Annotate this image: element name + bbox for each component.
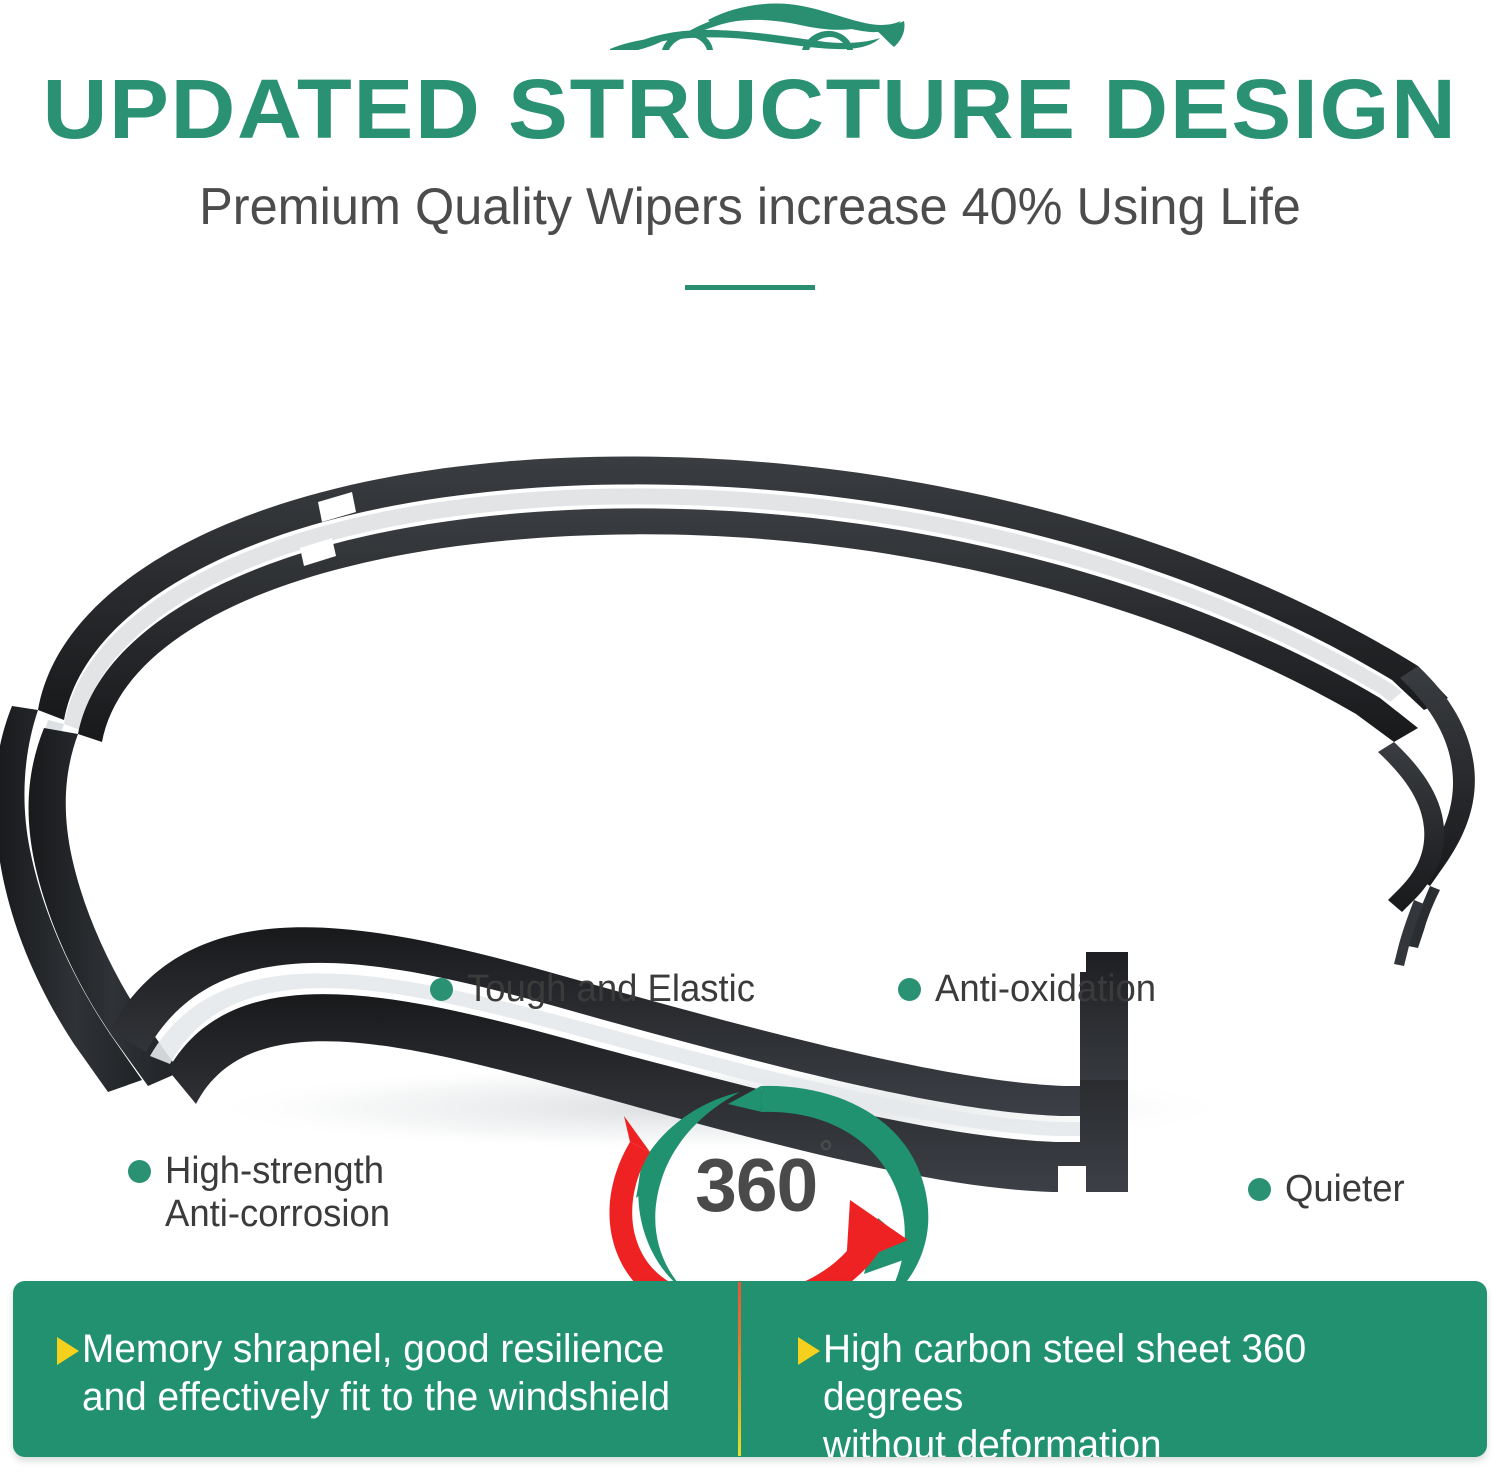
feature-tough-and-elastic: Tough and Elastic (430, 968, 767, 1011)
feature-quieter: Quieter (1248, 1168, 1410, 1211)
page-title: UPDATED STRUCTURE DESIGN (0, 62, 1500, 156)
car-silhouette-logo-icon (590, 2, 910, 62)
feature-label: Tough and Elastic (467, 968, 755, 1011)
banner-item-text: High carbon steel sheet 360 degrees with… (823, 1325, 1446, 1457)
bullet-dot-icon (430, 978, 453, 1001)
page-subtitle: Premium Quality Wipers increase 40% Usin… (23, 176, 1478, 238)
banner-item-text: Memory shrapnel, good resilience and eff… (82, 1325, 670, 1421)
bullet-dot-icon (1248, 1178, 1271, 1201)
product-image-area: Tough and Elastic Anti-oxidation High-st… (0, 380, 1500, 1220)
triangle-bullet-icon (57, 1337, 79, 1365)
banner-item-high-carbon-steel: High carbon steel sheet 360 degrees with… (750, 1281, 1487, 1457)
banner-divider (738, 1282, 741, 1456)
triangle-bullet-icon (798, 1337, 820, 1365)
feature-label: High-strength Anti-corrosion (165, 1150, 390, 1236)
heading-divider (685, 285, 815, 290)
bullet-dot-icon (898, 978, 921, 1001)
header-section: UPDATED STRUCTURE DESIGN Premium Quality… (0, 0, 1500, 300)
feature-high-strength-anti-corrosion: High-strength Anti-corrosion (128, 1150, 399, 1236)
green-rotation-arrow-icon (636, 1086, 928, 1304)
banner-item-memory-shrapnel: Memory shrapnel, good resilience and eff… (13, 1281, 750, 1457)
bottom-feature-banner: Memory shrapnel, good resilience and eff… (13, 1281, 1487, 1457)
feature-anti-oxidation: Anti-oxidation (898, 968, 1165, 1011)
feature-label: Quieter (1285, 1168, 1405, 1211)
feature-label: Anti-oxidation (935, 968, 1156, 1011)
bullet-dot-icon (128, 1160, 151, 1183)
